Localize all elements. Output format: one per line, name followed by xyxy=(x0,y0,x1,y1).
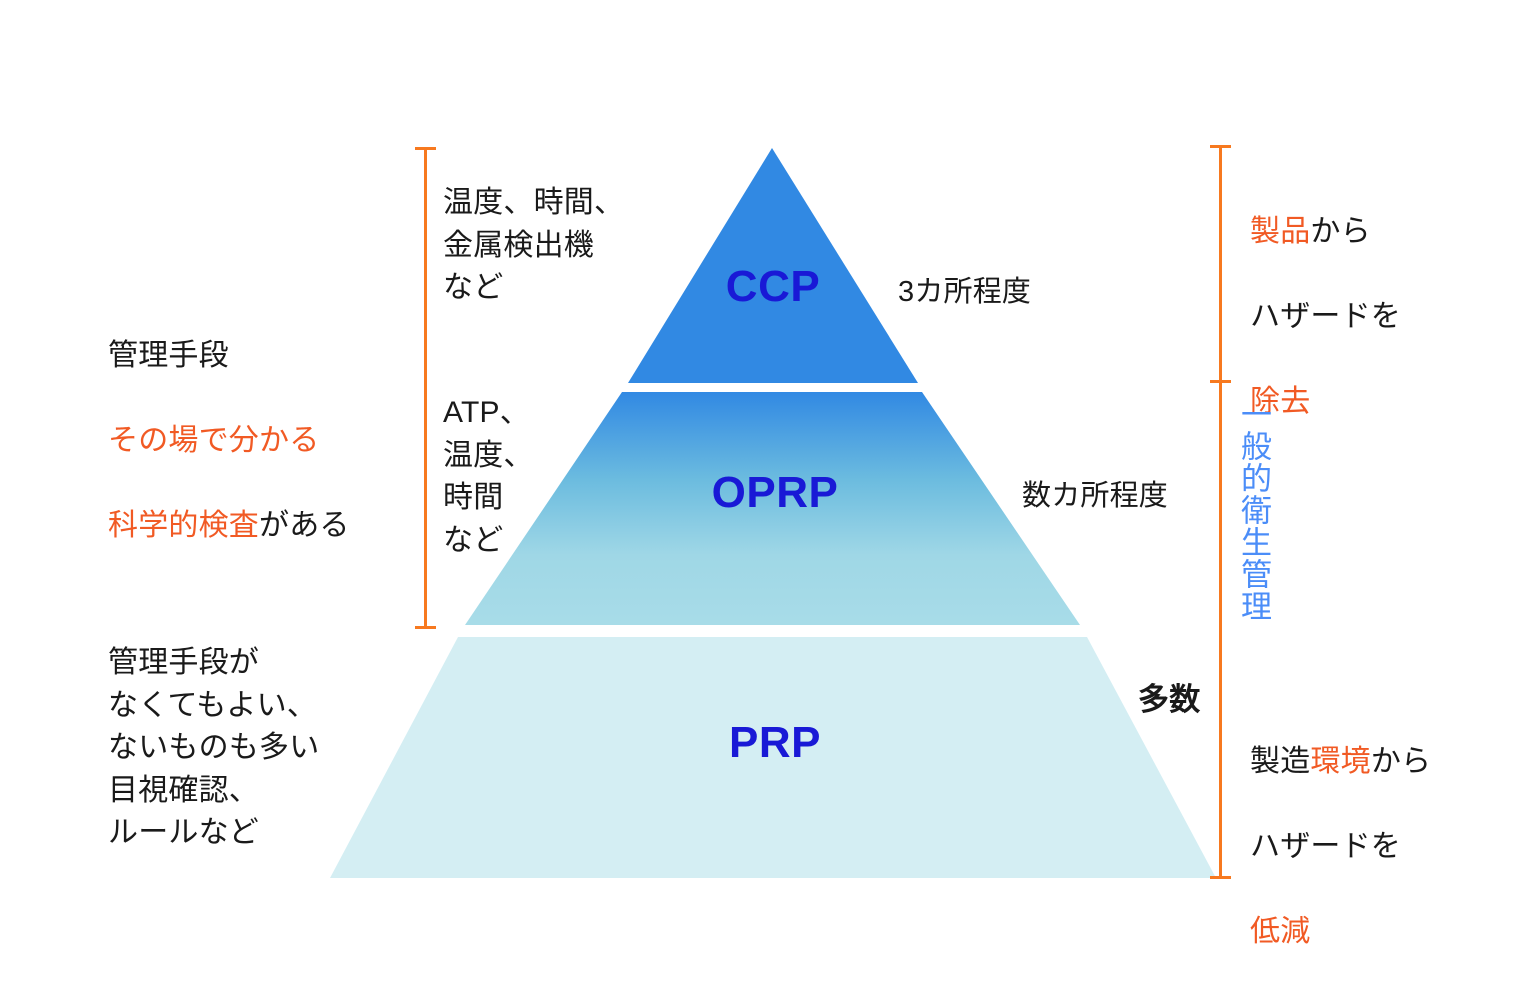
control-items-oprp: ATP、 温度、 時間 など xyxy=(443,392,573,562)
note-right-lower-line3: 低減 xyxy=(1250,911,1500,954)
note-right-upper-line1: 製品から xyxy=(1250,211,1480,254)
note-right-upper: 製品から ハザードを 除去 xyxy=(1250,168,1480,466)
note-right-lower-line2: ハザードを xyxy=(1250,826,1500,869)
bracket-left-bottom-cap xyxy=(415,626,436,629)
note-right-upper-highlight1: 製品 xyxy=(1250,215,1310,248)
note-left-lower: 管理手段が なくてもよい、 ないものも多い 目視確認、 ルールなど xyxy=(108,642,408,855)
count-label-prp: 多数 xyxy=(1138,678,1248,722)
note-left-upper-line1: 管理手段 xyxy=(108,335,408,378)
note-right-upper-line3: 除去 xyxy=(1250,381,1480,424)
bracket-left-stem xyxy=(424,147,427,629)
bracket-right-bottom-cap xyxy=(1210,876,1231,879)
note-left-upper-highlight: 科学的検査 xyxy=(108,509,259,542)
note-right-lower: 製造環境から ハザードを 低減 xyxy=(1250,698,1500,996)
note-left-upper-line2: その場で分かる xyxy=(108,420,408,463)
note-right-upper-line2: ハザードを xyxy=(1250,296,1480,339)
tier-label-prp: PRP xyxy=(600,718,950,768)
note-right-lower-line1: 製造環境から xyxy=(1250,741,1500,784)
tier-label-oprp: OPRP xyxy=(560,468,990,518)
tier-label-ccp: CCP xyxy=(628,262,918,312)
bracket-right-divider-tick xyxy=(1210,380,1231,383)
bracket-left xyxy=(415,147,436,629)
note-right-vertical: 一般的衛生管理 xyxy=(1238,398,1269,638)
note-right-lower-plain2: から xyxy=(1371,745,1431,778)
note-right-lower-highlight1: 環境 xyxy=(1310,745,1370,778)
count-label-ccp: 3カ所程度 xyxy=(898,272,1128,313)
diagram-canvas: CCP OPRP PRP 管理手段 その場で分かる 科学的検査がある 管理手段が… xyxy=(0,0,1536,998)
note-left-upper: 管理手段 その場で分かる 科学的検査がある xyxy=(108,292,408,590)
note-right-lower-plain1: 製造 xyxy=(1250,745,1310,778)
control-items-ccp: 温度、時間、 金属検出機 など xyxy=(443,182,653,310)
note-left-upper-suffix: がある xyxy=(259,509,350,542)
count-label-oprp: 数カ所程度 xyxy=(1022,476,1252,517)
note-right-upper-plain1: から xyxy=(1310,215,1370,248)
note-left-upper-line3: 科学的検査がある xyxy=(108,505,408,548)
